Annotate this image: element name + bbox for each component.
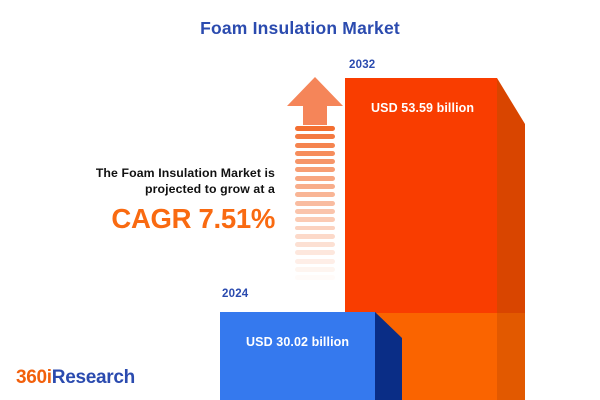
arrow-shaft-stripe — [295, 126, 335, 131]
arrow-shaft-stripe — [295, 234, 335, 239]
arrow-shaft-stripe — [295, 284, 335, 289]
infographic-canvas: Foam Insulation Market The Foam Insulati… — [0, 0, 600, 400]
arrow-shaft-stripe — [295, 209, 335, 214]
brand-logo: 360iResearch — [16, 367, 135, 389]
brand-logo-word: Research — [52, 367, 135, 388]
arrow-shaft-stripe — [295, 250, 335, 255]
statement-block: The Foam Insulation Market is projected … — [40, 165, 275, 235]
arrow-shaft-stripe — [295, 151, 335, 156]
statement-line-1: The Foam Insulation Market is — [40, 165, 275, 181]
arrow-head-icon — [286, 76, 344, 126]
bar-2032-value-label: USD 53.59 billion — [371, 101, 474, 115]
arrow-shaft-stripe — [295, 217, 335, 222]
bar-2024: USD 30.02 billion — [220, 312, 402, 400]
arrow-shaft-stripe — [295, 242, 335, 247]
arrow-shaft-stripe — [295, 226, 335, 231]
growth-arrow-icon — [286, 76, 344, 292]
arrow-shaft-stripe — [295, 159, 335, 164]
arrow-shaft-stripe — [295, 134, 335, 139]
arrow-shaft-stripe — [295, 192, 335, 197]
bar-2024-side-face — [375, 312, 402, 400]
arrow-shaft-stripe — [295, 267, 335, 272]
statement-line-2: projected to grow at a — [40, 181, 275, 197]
bar-2024-front-face — [220, 312, 375, 400]
brand-logo-mark: 360i — [16, 367, 52, 388]
arrow-shaft-stripe — [295, 143, 335, 148]
page-title: Foam Insulation Market — [0, 18, 600, 39]
year-label-2032: 2032 — [349, 59, 375, 71]
bar-2024-value-label: USD 30.02 billion — [246, 335, 349, 349]
arrow-shaft-stripe — [295, 176, 335, 181]
arrow-shaft-stripe — [295, 167, 335, 172]
arrow-shaft-stripe — [295, 184, 335, 189]
cagr-value: CAGR 7.51% — [40, 203, 275, 235]
arrow-shaft-stripe — [295, 275, 335, 280]
arrow-shaft-stripe — [295, 201, 335, 206]
year-label-2024: 2024 — [222, 288, 248, 300]
arrow-shaft-stripe — [295, 259, 335, 264]
bar-2032-side-face-lower — [497, 313, 525, 400]
arrow-shaft — [295, 126, 335, 292]
